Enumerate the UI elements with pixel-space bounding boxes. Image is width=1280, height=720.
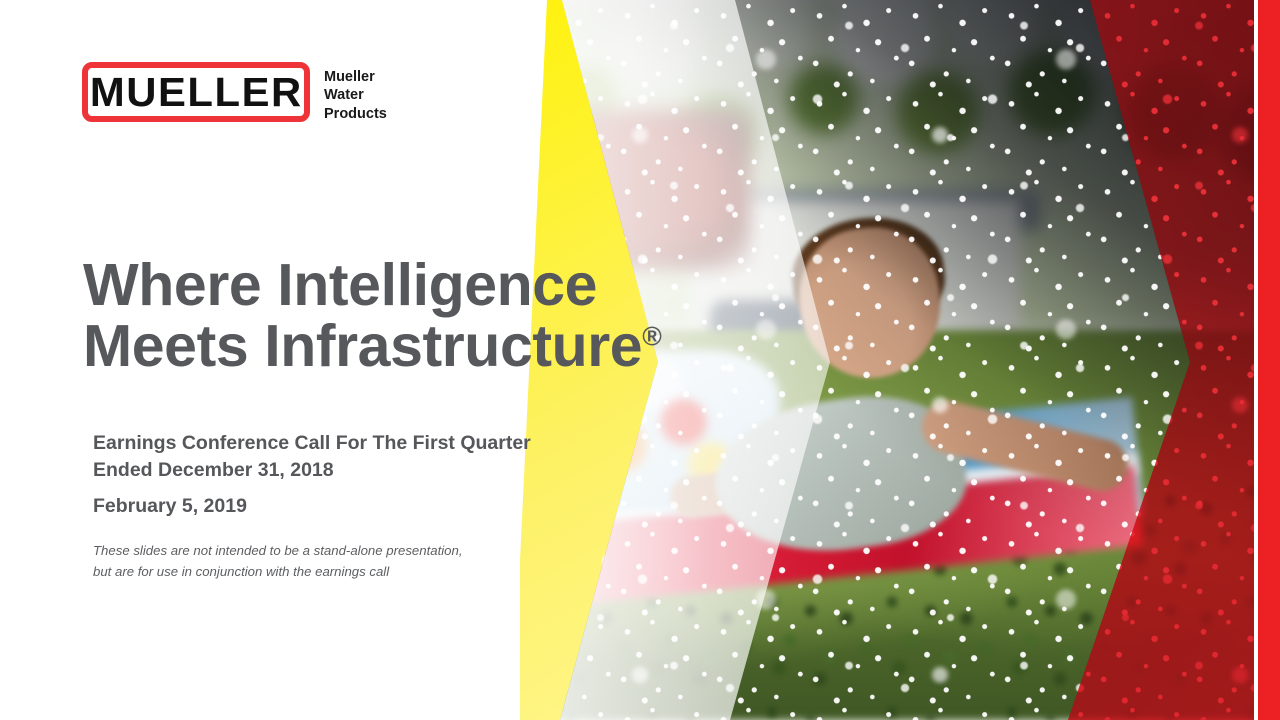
disclaimer-note: These slides are not intended to be a st… xyxy=(93,540,563,583)
right-red-bar xyxy=(1258,0,1280,720)
presentation-date: February 5, 2019 xyxy=(93,495,247,518)
presentation-slide: MUELLER Mueller Water Products Where Int… xyxy=(0,0,1280,720)
title-line-2-wrap: Meets Infrastructure® xyxy=(83,316,693,377)
subtitle: Earnings Conference Call For The First Q… xyxy=(93,430,613,483)
mueller-logo: MUELLER Mueller Water Products xyxy=(82,62,387,123)
logo-red-frame: MUELLER xyxy=(82,62,310,122)
title-line-2: Meets Infrastructure xyxy=(83,313,642,379)
logo-wordmark: MUELLER xyxy=(90,72,303,113)
page-title: Where Intelligence Meets Infrastructure® xyxy=(83,255,693,377)
logo-tagline: Mueller Water Products xyxy=(324,62,387,123)
title-line-1: Where Intelligence xyxy=(83,255,693,316)
registered-trademark-icon: ® xyxy=(642,321,662,351)
